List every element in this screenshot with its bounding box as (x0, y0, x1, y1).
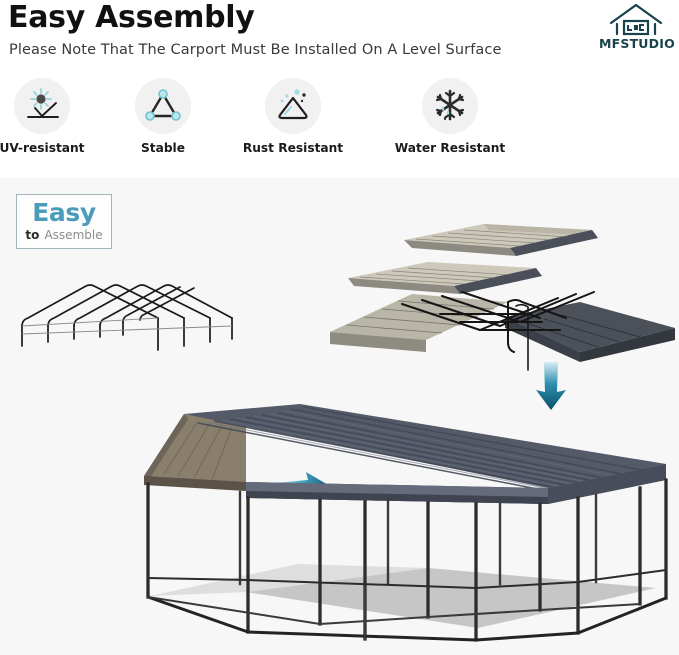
page-subtitle: Please Note That The Carport Must Be Ins… (9, 41, 501, 59)
brand-logo: MFSTUDIO (599, 3, 673, 51)
badge-assemble-text: Assemble (44, 228, 102, 242)
roof-panel-install-diagram (330, 222, 675, 362)
badge-to-text: to (25, 228, 39, 242)
page-title: Easy Assembly (8, 0, 255, 38)
feature-rust-resistant: Rust Resistant (228, 78, 358, 155)
easy-to-assemble-badge: Easy to Assemble (16, 194, 112, 249)
brand-name: MFSTUDIO (599, 36, 673, 51)
feature-stable: Stable (98, 78, 228, 155)
feature-uv-resistant: UV-resistant (0, 78, 107, 155)
product-feature-graphic: Easy Assembly Please Note That The Carpo… (0, 0, 679, 655)
badge-easy-text: Easy (17, 200, 111, 225)
finished-carport-render (128, 392, 679, 655)
feature-water-resistant: Water Resistant (385, 78, 515, 155)
snowflake-water-icon (422, 78, 478, 134)
feature-list: UV-resistant Stable (0, 78, 679, 160)
feature-label: Water Resistant (385, 141, 515, 155)
assembly-panel: Easy to Assemble (0, 178, 679, 655)
feature-label: UV-resistant (0, 141, 107, 155)
frame-skeleton-diagram (8, 274, 243, 354)
rust-resistant-droplet-icon (265, 78, 321, 134)
triangle-stable-icon (135, 78, 191, 134)
feature-label: Rust Resistant (228, 141, 358, 155)
uv-sun-reflect-icon (14, 78, 70, 134)
feature-label: Stable (98, 141, 228, 155)
badge-subline: to Assemble (17, 226, 111, 243)
house-outline-icon (608, 3, 664, 37)
